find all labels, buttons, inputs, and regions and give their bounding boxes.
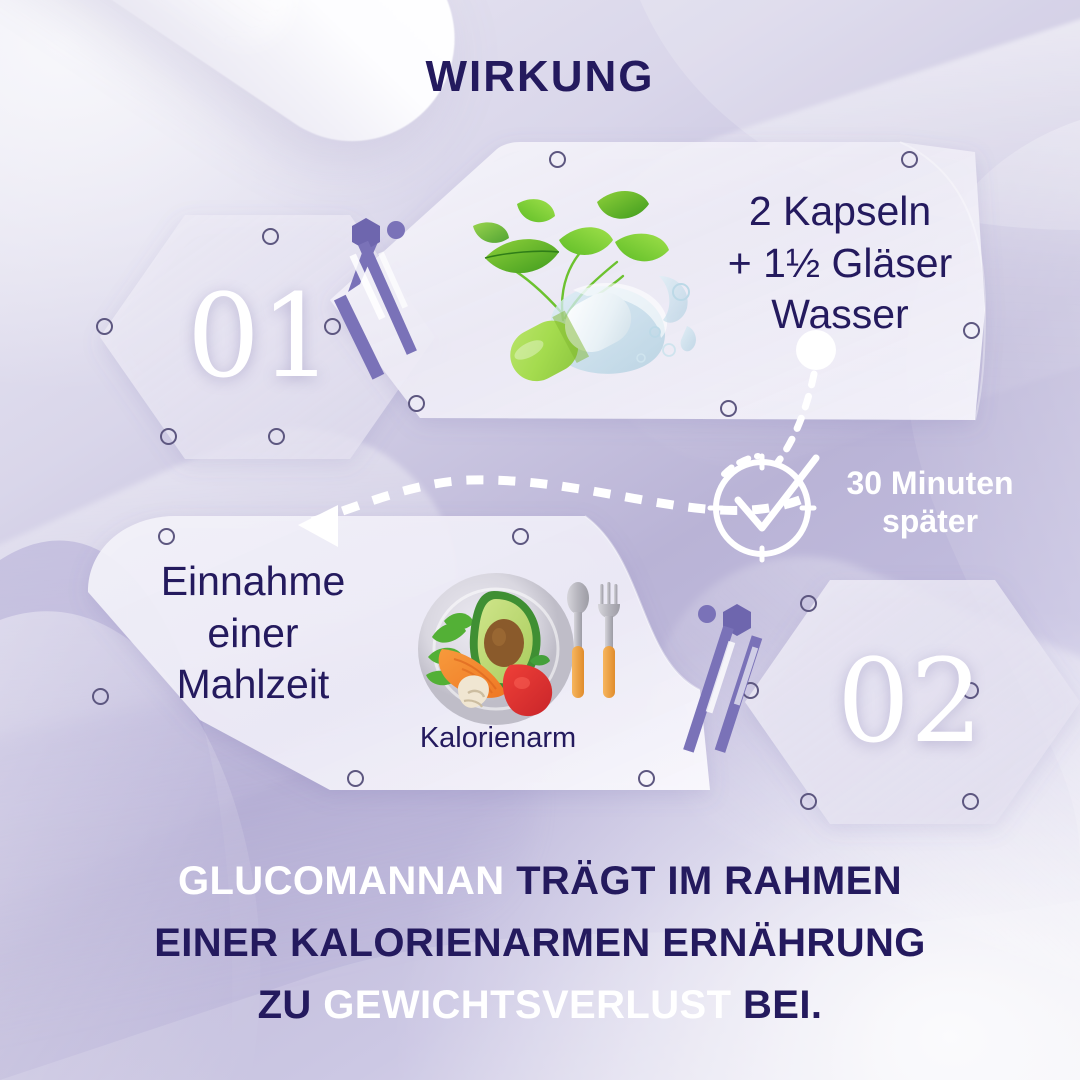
step-01-line-1: 2 Kapseln (690, 186, 990, 238)
decorative-bars-right (655, 598, 770, 783)
spoon (567, 582, 589, 698)
step-01-line-2: + 1½ Gläser (690, 238, 990, 290)
delay-label-line-2: später (815, 503, 1045, 541)
step-02-line-3: Mahlzeit (118, 659, 388, 711)
rivet (92, 688, 109, 705)
step-01-line-3: Wasser (690, 289, 990, 341)
rivet (720, 400, 737, 417)
rivet (638, 770, 655, 787)
flow-arrow (240, 455, 830, 570)
rivet (901, 151, 918, 168)
decorative-bars-left (330, 212, 445, 387)
rivet (158, 528, 175, 545)
spoon-fork-illustration (560, 578, 630, 708)
claim-seg-traegt: TRÄGT IM RAHMEN (516, 859, 902, 903)
claim-line-2: EINER KALORIENARMEN ERNÄHRUNG (40, 912, 1040, 974)
step-02-text: Einnahme einer Mahlzeit (118, 556, 388, 711)
infographic-canvas: WIRKUNG (0, 0, 1080, 1080)
claim-seg-bei: BEI. (743, 983, 822, 1027)
fork (598, 582, 620, 698)
meal-caption: Kalorienarm (388, 722, 608, 755)
capsule-plant-water-illustration (455, 180, 705, 385)
claim-line-3: ZU GEWICHTSVERLUST BEI. (40, 974, 1040, 1036)
rivet (549, 151, 566, 168)
claim-statement: GLUCOMANNAN TRÄGT IM RAHMEN EINER KALORI… (40, 850, 1040, 1036)
rivet (347, 770, 364, 787)
claim-seg-ernaehrung: EINER KALORIENARMEN ERNÄHRUNG (154, 921, 926, 965)
rivet (408, 395, 425, 412)
step-01-text: 2 Kapseln + 1½ Gläser Wasser (690, 186, 990, 341)
claim-seg-gewichtsverlust: GEWICHTSVERLUST (323, 983, 731, 1027)
page-title: WIRKUNG (0, 52, 1080, 102)
claim-seg-glucomannan: GLUCOMANNAN (178, 859, 505, 903)
plant-leaves (473, 191, 669, 273)
claim-seg-zu: ZU (258, 983, 312, 1027)
step-02-line-2: einer (118, 608, 388, 660)
delay-label-line-1: 30 Minuten (815, 465, 1045, 503)
step-02-line-1: Einnahme (118, 556, 388, 608)
step-02-number: 02 (760, 590, 1060, 815)
delay-label: 30 Minuten später (815, 465, 1045, 541)
claim-line-1: GLUCOMANNAN TRÄGT IM RAHMEN (40, 850, 1040, 912)
